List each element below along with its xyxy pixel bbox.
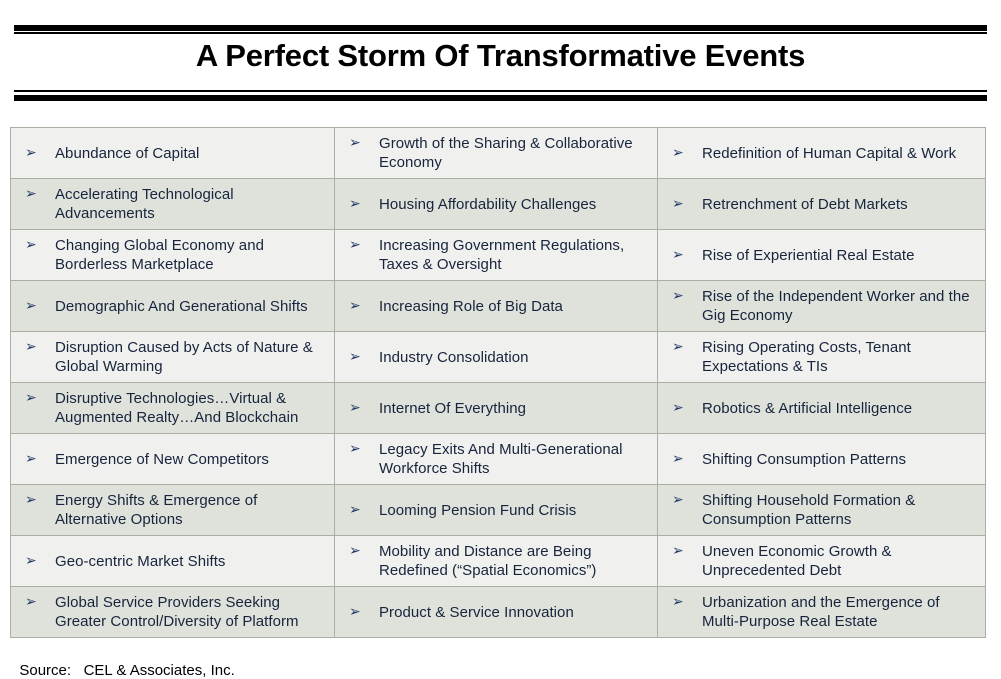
arrow-bullet-icon: ➢ [19,389,55,408]
table-cell: ➢Redefinition of Human Capital & Work [658,128,986,179]
table-cell: ➢Rise of the Independent Worker and the … [658,281,986,332]
list-item-label: Shifting Household Formation & Consumpti… [702,491,979,529]
list-item: ➢Legacy Exits And Multi-Generational Wor… [343,440,651,478]
list-item-label: Redefinition of Human Capital & Work [702,144,979,163]
arrow-bullet-icon: ➢ [19,593,55,612]
table-cell: ➢Retrenchment of Debt Markets [658,179,986,230]
table-cell: ➢Mobility and Distance are Being Redefin… [335,536,658,587]
table-cell: ➢Industry Consolidation [335,332,658,383]
arrow-bullet-icon: ➢ [666,338,702,357]
list-item: ➢Emergence of New Competitors [19,450,328,469]
table-row: ➢Demographic And Generational Shifts➢Inc… [11,281,986,332]
list-item-label: Product & Service Innovation [379,603,651,622]
list-item-label: Energy Shifts & Emergence of Alternative… [55,491,328,529]
table-cell: ➢Energy Shifts & Emergence of Alternativ… [11,485,335,536]
list-item-label: Looming Pension Fund Crisis [379,501,651,520]
arrow-bullet-icon: ➢ [666,399,702,418]
events-table-body: ➢Abundance of Capital➢Growth of the Shar… [11,128,986,638]
arrow-bullet-icon: ➢ [343,348,379,367]
events-table: ➢Abundance of Capital➢Growth of the Shar… [10,127,986,638]
list-item: ➢Looming Pension Fund Crisis [343,501,651,520]
arrow-bullet-icon: ➢ [19,144,55,163]
arrow-bullet-icon: ➢ [19,338,55,357]
list-item: ➢Retrenchment of Debt Markets [666,195,979,214]
list-item-label: Robotics & Artificial Intelligence [702,399,979,418]
list-item: ➢Rising Operating Costs, Tenant Expectat… [666,338,979,376]
list-item: ➢Mobility and Distance are Being Redefin… [343,542,651,580]
arrow-bullet-icon: ➢ [19,185,55,204]
table-cell: ➢Accelerating Technological Advancements [11,179,335,230]
arrow-bullet-icon: ➢ [666,542,702,561]
list-item: ➢Accelerating Technological Advancements [19,185,328,223]
table-cell: ➢Shifting Consumption Patterns [658,434,986,485]
list-item-label: Rise of the Independent Worker and the G… [702,287,979,325]
arrow-bullet-icon: ➢ [343,542,379,561]
list-item-label: Rise of Experiential Real Estate [702,246,979,265]
arrow-bullet-icon: ➢ [666,491,702,510]
table-row: ➢Global Service Providers Seeking Greate… [11,587,986,638]
source-value: CEL & Associates, Inc. [84,662,235,679]
table-cell: ➢Global Service Providers Seeking Greate… [11,587,335,638]
list-item: ➢Internet Of Everything [343,399,651,418]
table-row: ➢Emergence of New Competitors➢Legacy Exi… [11,434,986,485]
table-row: ➢Changing Global Economy and Borderless … [11,230,986,281]
table-cell: ➢Product & Service Innovation [335,587,658,638]
list-item: ➢Redefinition of Human Capital & Work [666,144,979,163]
list-item: ➢Global Service Providers Seeking Greate… [19,593,328,631]
list-item: ➢Abundance of Capital [19,144,328,163]
table-cell: ➢Uneven Economic Growth & Unprecedented … [658,536,986,587]
list-item: ➢Robotics & Artificial Intelligence [666,399,979,418]
table-cell: ➢Emergence of New Competitors [11,434,335,485]
list-item-label: Urbanization and the Emergence of Multi-… [702,593,979,631]
list-item-label: Abundance of Capital [55,144,328,163]
arrow-bullet-icon: ➢ [666,246,702,265]
list-item-label: Global Service Providers Seeking Greater… [55,593,328,631]
table-cell: ➢Growth of the Sharing & Collaborative E… [335,128,658,179]
list-item-label: Increasing Government Regulations, Taxes… [379,236,651,274]
arrow-bullet-icon: ➢ [343,297,379,316]
table-cell: ➢Abundance of Capital [11,128,335,179]
list-item: ➢Increasing Role of Big Data [343,297,651,316]
list-item: ➢Rise of Experiential Real Estate [666,246,979,265]
arrow-bullet-icon: ➢ [343,501,379,520]
table-cell: ➢Increasing Government Regulations, Taxe… [335,230,658,281]
list-item: ➢Geo-centric Market Shifts [19,552,328,571]
list-item-label: Emergence of New Competitors [55,450,328,469]
list-item-label: Housing Affordability Challenges [379,195,651,214]
page-title: A Perfect Storm Of Transformative Events [0,38,1001,74]
arrow-bullet-icon: ➢ [666,144,702,163]
arrow-bullet-icon: ➢ [343,236,379,255]
table-cell: ➢Demographic And Generational Shifts [11,281,335,332]
table-cell: ➢Urbanization and the Emergence of Multi… [658,587,986,638]
source-label: Source: [19,662,71,679]
arrow-bullet-icon: ➢ [19,236,55,255]
list-item-label: Increasing Role of Big Data [379,297,651,316]
arrow-bullet-icon: ➢ [343,440,379,459]
table-row: ➢Geo-centric Market Shifts➢Mobility and … [11,536,986,587]
list-item: ➢Urbanization and the Emergence of Multi… [666,593,979,631]
arrow-bullet-icon: ➢ [19,450,55,469]
table-cell: ➢Legacy Exits And Multi-Generational Wor… [335,434,658,485]
arrow-bullet-icon: ➢ [343,603,379,622]
list-item-label: Shifting Consumption Patterns [702,450,979,469]
table-cell: ➢Housing Affordability Challenges [335,179,658,230]
list-item: ➢Changing Global Economy and Borderless … [19,236,328,274]
list-item-label: Geo-centric Market Shifts [55,552,328,571]
list-item: ➢Housing Affordability Challenges [343,195,651,214]
arrow-bullet-icon: ➢ [666,287,702,306]
list-item-label: Internet Of Everything [379,399,651,418]
table-row: ➢Accelerating Technological Advancements… [11,179,986,230]
list-item-label: Accelerating Technological Advancements [55,185,328,223]
list-item-label: Mobility and Distance are Being Redefine… [379,542,651,580]
table-cell: ➢Robotics & Artificial Intelligence [658,383,986,434]
table-cell: ➢Internet Of Everything [335,383,658,434]
title-rule-top [14,25,987,34]
list-item: ➢Shifting Consumption Patterns [666,450,979,469]
list-item: ➢Product & Service Innovation [343,603,651,622]
arrow-bullet-icon: ➢ [19,552,55,571]
arrow-bullet-icon: ➢ [343,134,379,153]
arrow-bullet-icon: ➢ [343,399,379,418]
table-row: ➢Abundance of Capital➢Growth of the Shar… [11,128,986,179]
list-item: ➢Shifting Household Formation & Consumpt… [666,491,979,529]
list-item: ➢Uneven Economic Growth & Unprecedented … [666,542,979,580]
arrow-bullet-icon: ➢ [666,450,702,469]
list-item-label: Uneven Economic Growth & Unprecedented D… [702,542,979,580]
list-item-label: Disruptive Technologies…Virtual & Augmen… [55,389,328,427]
list-item: ➢Disruption Caused by Acts of Nature & G… [19,338,328,376]
arrow-bullet-icon: ➢ [19,297,55,316]
arrow-bullet-icon: ➢ [666,593,702,612]
table-row: ➢Disruption Caused by Acts of Nature & G… [11,332,986,383]
table-cell: ➢Shifting Household Formation & Consumpt… [658,485,986,536]
table-cell: ➢Rising Operating Costs, Tenant Expectat… [658,332,986,383]
table-cell: ➢Geo-centric Market Shifts [11,536,335,587]
table-cell: ➢Looming Pension Fund Crisis [335,485,658,536]
list-item: ➢Rise of the Independent Worker and the … [666,287,979,325]
table-cell: ➢Disruptive Technologies…Virtual & Augme… [11,383,335,434]
list-item: ➢Disruptive Technologies…Virtual & Augme… [19,389,328,427]
list-item: ➢Increasing Government Regulations, Taxe… [343,236,651,274]
list-item-label: Rising Operating Costs, Tenant Expectati… [702,338,979,376]
table-cell: ➢Rise of Experiential Real Estate [658,230,986,281]
table-row: ➢Disruptive Technologies…Virtual & Augme… [11,383,986,434]
list-item-label: Retrenchment of Debt Markets [702,195,979,214]
arrow-bullet-icon: ➢ [666,195,702,214]
list-item: ➢Demographic And Generational Shifts [19,297,328,316]
list-item-label: Legacy Exits And Multi-Generational Work… [379,440,651,478]
table-cell: ➢Increasing Role of Big Data [335,281,658,332]
arrow-bullet-icon: ➢ [343,195,379,214]
list-item: ➢Energy Shifts & Emergence of Alternativ… [19,491,328,529]
table-cell: ➢Changing Global Economy and Borderless … [11,230,335,281]
events-grid: ➢Abundance of Capital➢Growth of the Shar… [10,127,985,638]
list-item-label: Disruption Caused by Acts of Nature & Gl… [55,338,328,376]
title-rule-bottom [14,90,987,101]
list-item-label: Changing Global Economy and Borderless M… [55,236,328,274]
list-item-label: Demographic And Generational Shifts [55,297,328,316]
list-item: ➢Industry Consolidation [343,348,651,367]
table-cell: ➢Disruption Caused by Acts of Nature & G… [11,332,335,383]
arrow-bullet-icon: ➢ [19,491,55,510]
table-row: ➢Energy Shifts & Emergence of Alternativ… [11,485,986,536]
list-item-label: Growth of the Sharing & Collaborative Ec… [379,134,651,172]
source-note: Source: CEL & Associates, Inc. [11,645,235,679]
list-item-label: Industry Consolidation [379,348,651,367]
title-block: A Perfect Storm Of Transformative Events [0,0,1001,112]
list-item: ➢Growth of the Sharing & Collaborative E… [343,134,651,172]
